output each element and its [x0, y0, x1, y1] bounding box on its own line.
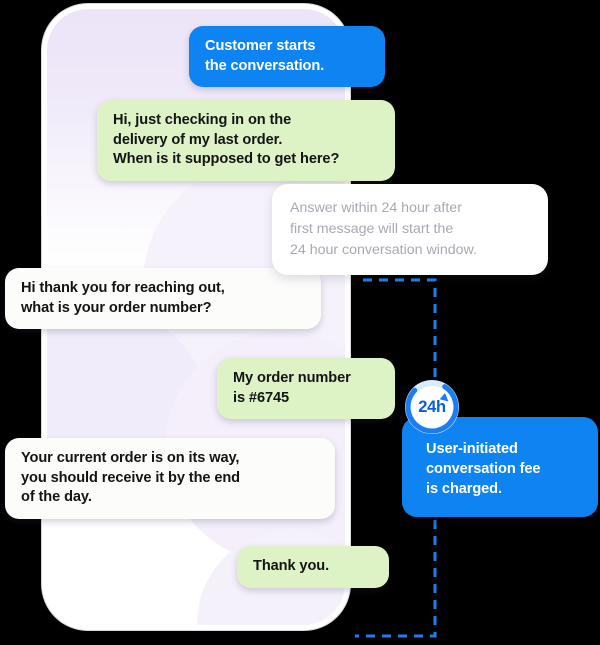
- chat-bubble-customer: Hi, just checking in on the delivery of …: [97, 100, 395, 181]
- diagram-canvas: Customer starts the conversation. Hi, ju…: [0, 0, 600, 645]
- chat-bubble-customer: My order number is #6745: [217, 358, 395, 419]
- chat-bubble-customer: Thank you.: [237, 546, 389, 588]
- badge-label: 24h: [404, 379, 460, 435]
- chat-bubble-agent: Your current order is on its way, you sh…: [5, 438, 335, 519]
- chat-bubble-system: Customer starts the conversation.: [189, 26, 385, 87]
- chat-bubble-agent: Hi thank you for reaching out, what is y…: [5, 268, 321, 329]
- conversation-window-note: Answer within 24 hour after first messag…: [272, 184, 548, 275]
- clock-refresh-icon: 24h: [404, 379, 460, 435]
